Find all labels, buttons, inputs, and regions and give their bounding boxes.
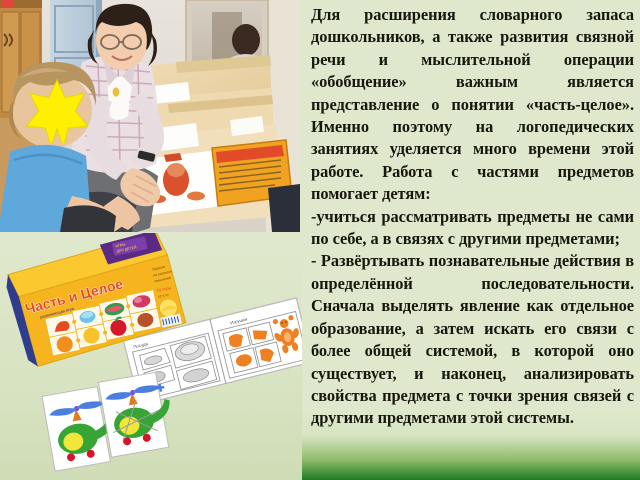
product-artwork: Посуда Игрушки xyxy=(0,233,302,480)
text-column: Для расширения словарного запаса дошколь… xyxy=(311,4,634,444)
photo-speech-therapy-session xyxy=(0,0,300,232)
slide-body-text: Для расширения словарного запаса дошколь… xyxy=(311,4,634,430)
slide-canvas: Посуда Игрушки xyxy=(0,0,640,480)
photo-game-box-and-cards: Посуда Игрушки xyxy=(0,233,302,480)
star-privacy-overlay-icon xyxy=(25,79,89,143)
